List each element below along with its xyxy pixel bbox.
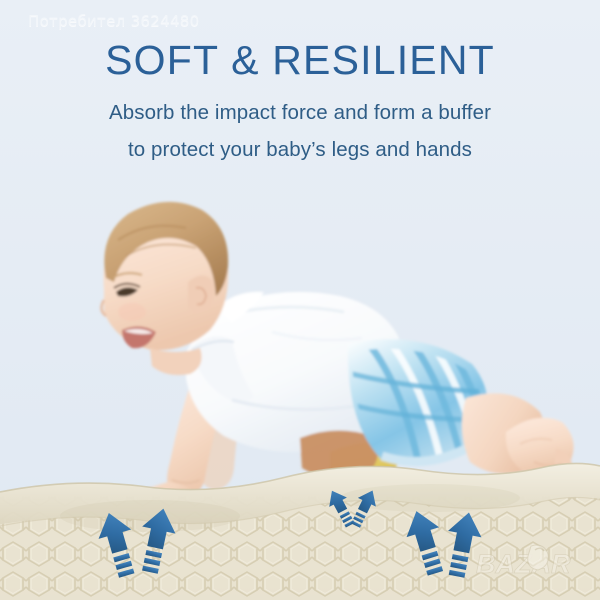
promo-image-canvas: Потребител 3624480 SOFT & RESILIENT Abso… — [0, 0, 600, 600]
impact-arrow — [92, 508, 143, 580]
bazar-watermark: BAZAR — [474, 540, 592, 586]
impact-arrow-layer — [0, 0, 600, 600]
impact-arrow — [133, 505, 180, 576]
impact-arrow — [400, 506, 452, 578]
bazar-wordmark: BAZAR — [476, 549, 571, 579]
impact-arrow — [346, 486, 381, 530]
arrow-group-left-hand — [92, 505, 180, 580]
arrow-group-right-knee — [400, 506, 486, 579]
arrow-group-center-knee — [323, 486, 381, 530]
